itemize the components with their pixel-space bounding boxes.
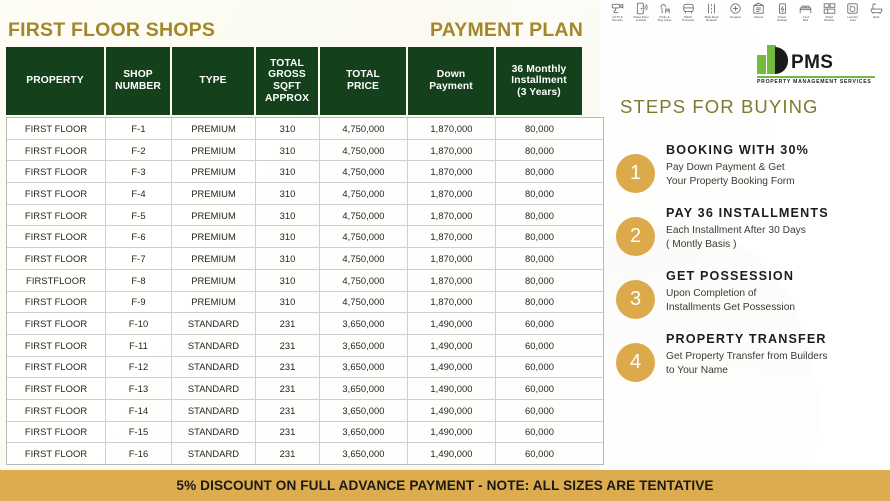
table-cell: F-12 [105, 357, 171, 378]
table-cell: STANDARD [171, 378, 255, 399]
amenity-label: Public Transport [682, 16, 695, 22]
table-cell: 60,000 [495, 357, 583, 378]
step-title: GET POSSESSION [666, 269, 795, 283]
table-cell: 4,750,000 [319, 183, 407, 204]
bus-icon [681, 2, 696, 15]
amenity-bath: Bath [866, 2, 887, 19]
table-cell: F-4 [105, 183, 171, 204]
laundry-icon [845, 2, 860, 15]
table-cell: 3,650,000 [319, 378, 407, 399]
table-cell: F-9 [105, 292, 171, 313]
step-item: 2PAY 36 INSTALLMENTSEach Installment Aft… [616, 203, 888, 256]
steps-heading: STEPS FOR BUYING [620, 96, 819, 118]
table-cell: F-2 [105, 140, 171, 161]
amenity-label: CCTV & Security [612, 16, 623, 22]
step-body: BOOKING WITH 30%Pay Down Payment & Get Y… [666, 140, 809, 188]
table-cell: 3,650,000 [319, 357, 407, 378]
table-cell: 1,870,000 [407, 140, 495, 161]
table-cell: 310 [255, 270, 319, 291]
discount-banner: 5% DISCOUNT ON FULL ADVANCE PAYMENT - NO… [0, 470, 890, 501]
table-cell: 3,650,000 [319, 335, 407, 356]
table-row: FIRST FLOORF-14STANDARD2313,650,0001,490… [7, 399, 603, 421]
table-cell: 231 [255, 335, 319, 356]
table-cell: F-5 [105, 205, 171, 226]
pms-logo-rule [757, 76, 875, 78]
table-cell: F-11 [105, 335, 171, 356]
amenity-label: Hospital [730, 16, 741, 19]
table-cell: F-1 [105, 118, 171, 139]
table-row: FIRST FLOORF-5PREMIUM3104,750,0001,870,0… [7, 204, 603, 226]
table-cell: 80,000 [495, 140, 583, 161]
table-cell: 1,870,000 [407, 183, 495, 204]
table-cell: FIRST FLOOR [7, 248, 105, 269]
table-cell: 3,650,000 [319, 443, 407, 464]
table-cell: 1,870,000 [407, 226, 495, 247]
amenity-fitted-kitchen: Fitted Kitchen [819, 2, 840, 22]
table-cell: 310 [255, 183, 319, 204]
table-cell: 60,000 [495, 313, 583, 334]
table-cell: FIRST FLOOR [7, 205, 105, 226]
column-header-shop-number: SHOP NUMBER [106, 47, 170, 115]
table-cell: 4,750,000 [319, 270, 407, 291]
table-cell: 310 [255, 292, 319, 313]
amenity-hospital: Hospital [725, 2, 746, 19]
table-cell: F-7 [105, 248, 171, 269]
amenity-cctv-security: CCTV & Security [607, 2, 628, 22]
table-row: FIRST FLOORF-4PREMIUM3104,750,0001,870,0… [7, 182, 603, 204]
step-title: PAY 36 INSTALLMENTS [666, 206, 829, 220]
step-number-badge: 3 [616, 280, 655, 319]
step-body: PROPERTY TRANSFERGet Property Transfer f… [666, 329, 828, 377]
amenity-wide-road-network: Wide Road Network [701, 2, 722, 22]
column-header-total-price: TOTAL PRICE [320, 47, 406, 115]
table-cell: FIRST FLOOR [7, 183, 105, 204]
table-cell: FIRST FLOOR [7, 313, 105, 334]
step-detail: Each Installment After 30 Days ( Montly … [666, 224, 829, 251]
amenity-label: Fitted Kitchen [824, 16, 834, 22]
step-body: PAY 36 INSTALLMENTSEach Installment Afte… [666, 203, 829, 251]
table-cell: 4,750,000 [319, 161, 407, 182]
table-cell: 60,000 [495, 378, 583, 399]
payment-plan-slide: CCTV & Security Smart Entry & Alarm Park… [0, 0, 890, 501]
table-cell: 310 [255, 161, 319, 182]
bed-icon [798, 2, 813, 15]
table-cell: PREMIUM [171, 183, 255, 204]
table-cell: STANDARD [171, 400, 255, 421]
table-row: FIRST FLOORF-7PREMIUM3104,750,0001,870,0… [7, 247, 603, 269]
table-cell: PREMIUM [171, 226, 255, 247]
table-row: FIRST FLOORF-11STANDARD2313,650,0001,490… [7, 334, 603, 356]
amenity-public-transport: Public Transport [678, 2, 699, 22]
table-cell: 1,490,000 [407, 378, 495, 399]
amenity-label: Wide Road Network [705, 16, 719, 22]
table-row: FIRST FLOORF-6PREMIUM3104,750,0001,870,0… [7, 225, 603, 247]
column-header-installment: 36 Monthly Installment (3 Years) [496, 47, 582, 115]
column-header-type: TYPE [172, 47, 254, 115]
table-cell: 1,490,000 [407, 335, 495, 356]
table-row: FIRST FLOORF-3PREMIUM3104,750,0001,870,0… [7, 160, 603, 182]
table-cell: 80,000 [495, 161, 583, 182]
page-title-left: FIRST FLOOR SHOPS [8, 19, 215, 42]
table-cell: 1,490,000 [407, 400, 495, 421]
bathtub-icon [869, 2, 884, 15]
table-cell: 80,000 [495, 226, 583, 247]
pms-logo-text: PMS [791, 53, 833, 74]
table-cell: F-10 [105, 313, 171, 334]
amenity-school: School [748, 2, 769, 19]
table-header-row: PROPERTY SHOP NUMBER TYPE TOTAL GROSS SQ… [6, 47, 604, 115]
table-cell: FIRST FLOOR [7, 422, 105, 443]
table-row: FIRST FLOORF-13STANDARD2313,650,0001,490… [7, 377, 603, 399]
table-cell: 80,000 [495, 292, 583, 313]
table-cell: PREMIUM [171, 140, 255, 161]
table-cell: 1,870,000 [407, 292, 495, 313]
table-cell: 60,000 [495, 400, 583, 421]
table-cell: 1,870,000 [407, 248, 495, 269]
table-cell: STANDARD [171, 443, 255, 464]
table-cell: 231 [255, 357, 319, 378]
table-cell: FIRST FLOOR [7, 226, 105, 247]
page-title-right: PAYMENT PLAN [430, 19, 583, 42]
table-row: FIRST FLOORF-12STANDARD2313,650,0001,490… [7, 356, 603, 378]
table-cell: 1,870,000 [407, 118, 495, 139]
amenity-label: 1 & 2 Bed [803, 16, 810, 22]
amenity-power-backup: Power Backup [772, 2, 793, 22]
table-cell: FIRSTFLOOR [7, 270, 105, 291]
table-cell: 4,750,000 [319, 205, 407, 226]
table-cell: F-3 [105, 161, 171, 182]
step-detail: Get Property Transfer from Builders to Y… [666, 350, 828, 377]
table-cell: PREMIUM [171, 161, 255, 182]
amenity-label: Smart Entry & Alarm [633, 16, 648, 22]
table-cell: PREMIUM [171, 292, 255, 313]
road-icon [704, 2, 719, 15]
table-cell: F-6 [105, 226, 171, 247]
table-cell: 1,490,000 [407, 357, 495, 378]
step-item: 3GET POSSESSIONUpon Completion of Instal… [616, 266, 888, 319]
hospital-icon [728, 2, 743, 15]
table-row: FIRST FLOORF-16STANDARD2313,650,0001,490… [7, 442, 603, 464]
amenities-strip: CCTV & Security Smart Entry & Alarm Park… [604, 1, 890, 31]
table-cell: 80,000 [495, 118, 583, 139]
step-body: GET POSSESSIONUpon Completion of Install… [666, 266, 795, 314]
step-number-badge: 1 [616, 154, 655, 193]
power-backup-icon [775, 2, 790, 15]
table-cell: PREMIUM [171, 270, 255, 291]
step-number-badge: 2 [616, 217, 655, 256]
table-cell: 310 [255, 226, 319, 247]
step-item: 1BOOKING WITH 30%Pay Down Payment & Get … [616, 140, 888, 193]
smart-entry-icon [634, 2, 649, 15]
table-cell: 3,650,000 [319, 400, 407, 421]
table-cell: FIRST FLOOR [7, 140, 105, 161]
table-cell: 1,870,000 [407, 161, 495, 182]
table-cell: PREMIUM [171, 118, 255, 139]
table-cell: 1,490,000 [407, 443, 495, 464]
table-cell: 4,750,000 [319, 118, 407, 139]
table-cell: 80,000 [495, 270, 583, 291]
table-cell: 80,000 [495, 248, 583, 269]
payment-plan-table: PROPERTY SHOP NUMBER TYPE TOTAL GROSS SQ… [6, 47, 604, 465]
table-cell: FIRST FLOOR [7, 161, 105, 182]
amenity-label: Bath [873, 16, 879, 19]
table-cell: 1,490,000 [407, 313, 495, 334]
amenity-bedrooms: 1 & 2 Bed [795, 2, 816, 22]
table-cell: F-16 [105, 443, 171, 464]
table-cell: 231 [255, 443, 319, 464]
column-header-down-payment: Down Payment [408, 47, 494, 115]
amenity-laundry-area: Laundry Area [842, 2, 863, 22]
table-cell: 231 [255, 422, 319, 443]
table-cell: 4,750,000 [319, 292, 407, 313]
amenity-smart-entry-alarm: Smart Entry & Alarm [631, 2, 652, 22]
table-row: FIRST FLOORF-10STANDARD2313,650,0001,490… [7, 312, 603, 334]
table-cell: FIRST FLOOR [7, 378, 105, 399]
table-cell: 60,000 [495, 422, 583, 443]
pms-logo: PMS PROPERTY MANAGEMENT SERVICES [757, 44, 879, 86]
step-detail: Upon Completion of Installments Get Poss… [666, 287, 795, 314]
table-cell: PREMIUM [171, 248, 255, 269]
table-row: FIRST FLOORF-1PREMIUM3104,750,0001,870,0… [7, 117, 603, 139]
table-cell: 3,650,000 [319, 313, 407, 334]
step-detail: Pay Down Payment & Get Your Property Boo… [666, 161, 809, 188]
step-title: PROPERTY TRANSFER [666, 332, 828, 346]
table-cell: F-13 [105, 378, 171, 399]
table-body: FIRST FLOORF-1PREMIUM3104,750,0001,870,0… [6, 117, 604, 465]
table-cell: 60,000 [495, 443, 583, 464]
table-cell: STANDARD [171, 335, 255, 356]
amenity-parks-play-areas: Parks & Play Areas [654, 2, 675, 22]
table-cell: 231 [255, 313, 319, 334]
table-cell: 60,000 [495, 335, 583, 356]
table-cell: 4,750,000 [319, 226, 407, 247]
table-cell: 80,000 [495, 183, 583, 204]
step-number-badge: 4 [616, 343, 655, 382]
park-tree-icon [657, 2, 672, 15]
table-cell: 231 [255, 400, 319, 421]
amenity-label: Laundry Area [847, 16, 858, 22]
amenity-label: Parks & Play Areas [658, 16, 672, 22]
table-cell: 310 [255, 140, 319, 161]
table-cell: STANDARD [171, 422, 255, 443]
amenity-label: School [754, 16, 763, 19]
kitchen-icon [822, 2, 837, 15]
table-cell: 231 [255, 378, 319, 399]
table-cell: 4,750,000 [319, 248, 407, 269]
table-cell: STANDARD [171, 357, 255, 378]
table-cell: FIRST FLOOR [7, 292, 105, 313]
pms-logo-tagline: PROPERTY MANAGEMENT SERVICES [757, 79, 879, 85]
table-cell: 1,870,000 [407, 270, 495, 291]
step-title: BOOKING WITH 30% [666, 143, 809, 157]
table-cell: FIRST FLOOR [7, 400, 105, 421]
discount-banner-text: 5% DISCOUNT ON FULL ADVANCE PAYMENT - NO… [176, 478, 713, 493]
table-cell: 310 [255, 118, 319, 139]
table-cell: 310 [255, 248, 319, 269]
steps-list: 1BOOKING WITH 30%Pay Down Payment & Get … [616, 140, 888, 392]
table-cell: F-8 [105, 270, 171, 291]
column-header-gross-sqft: TOTAL GROSS SQFT APPROX [256, 47, 318, 115]
table-cell: F-14 [105, 400, 171, 421]
column-header-property: PROPERTY [6, 47, 104, 115]
table-cell: PREMIUM [171, 205, 255, 226]
table-row: FIRST FLOORF-9PREMIUM3104,750,0001,870,0… [7, 291, 603, 313]
table-cell: 80,000 [495, 205, 583, 226]
amenity-label: Power Backup [777, 16, 787, 22]
table-row: FIRST FLOORF-15STANDARD2313,650,0001,490… [7, 421, 603, 443]
table-cell: 3,650,000 [319, 422, 407, 443]
school-icon [751, 2, 766, 15]
table-cell: 4,750,000 [319, 140, 407, 161]
table-cell: STANDARD [171, 313, 255, 334]
table-cell: 1,870,000 [407, 205, 495, 226]
pms-logo-mark-icon [757, 44, 787, 74]
cctv-camera-icon [610, 2, 625, 15]
table-cell: FIRST FLOOR [7, 443, 105, 464]
table-row: FIRST FLOORF-2PREMIUM3104,750,0001,870,0… [7, 139, 603, 161]
table-cell: FIRST FLOOR [7, 118, 105, 139]
table-cell: F-15 [105, 422, 171, 443]
table-cell: FIRST FLOOR [7, 357, 105, 378]
table-cell: 310 [255, 205, 319, 226]
step-item: 4PROPERTY TRANSFERGet Property Transfer … [616, 329, 888, 382]
table-cell: 1,490,000 [407, 422, 495, 443]
table-cell: FIRST FLOOR [7, 335, 105, 356]
table-row: FIRSTFLOORF-8PREMIUM3104,750,0001,870,00… [7, 269, 603, 291]
